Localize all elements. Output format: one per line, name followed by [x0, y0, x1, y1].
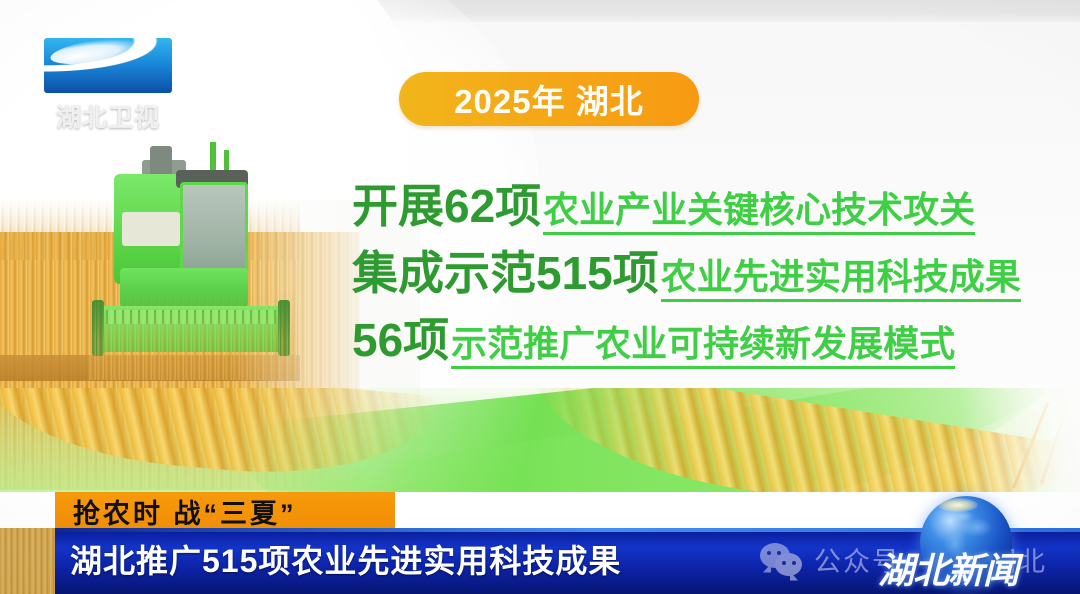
bullet-lead: 开展62项 [352, 182, 541, 232]
category-tag-label: 抢农时 战“三夏” [73, 492, 297, 531]
bullet-tail: 农业产业关键核心技术攻关 [543, 191, 975, 235]
bullet-line: 集成示范515项 农业先进实用科技成果 [352, 249, 1052, 302]
left-edge-wheat-strip [0, 528, 55, 594]
bullet-lead: 集成示范515项 [352, 249, 659, 299]
title-pill-label: 2025年 湖北 [454, 75, 644, 123]
harvester-grill [122, 212, 180, 246]
wechat-dot [777, 551, 781, 555]
globe-flare [938, 498, 978, 512]
channel-name: 湖北卫视 [44, 98, 172, 134]
hubei-satellite-tv-logo-icon [44, 38, 172, 93]
bullet-line: 开展62项 农业产业关键核心技术攻关 [352, 182, 1052, 235]
harvester-foreground-wheat [88, 290, 298, 380]
bullet-tail: 农业先进实用科技成果 [661, 258, 1021, 302]
title-pill: 2025年 湖北 [399, 72, 699, 126]
combine-harvester-icon [98, 140, 288, 370]
wechat-icon [760, 543, 804, 577]
harvester-cab [180, 182, 248, 274]
category-tag: 抢农时 战“三夏” [55, 492, 395, 530]
harvester-exhaust [150, 146, 172, 176]
wechat-dot [767, 551, 771, 555]
bullet-lead: 56项 [352, 316, 449, 366]
wechat-dot [792, 561, 796, 565]
bullet-tail: 示范推广农业可持续新发展模式 [451, 325, 955, 369]
news-program-logo: 湖北新闻 [878, 542, 1018, 594]
bullet-list: 开展62项 农业产业关键核心技术攻关 集成示范515项 农业先进实用科技成果 5… [352, 182, 1052, 383]
broadcast-graphic: 湖北卫视 2025年 湖北 开展62项 农业产业关键核心技术攻关 集成示范515… [0, 0, 1080, 594]
headline-bar-highlight [0, 528, 1080, 532]
bullet-line: 56项 示范推广农业可持续新发展模式 [352, 316, 1052, 369]
wechat-dot [782, 561, 786, 565]
wechat-bubble-small [775, 553, 802, 576]
channel-logo: 湖北卫视 [44, 38, 174, 128]
headline-text: 湖北推广515项农业先进实用科技成果 [70, 536, 621, 582]
